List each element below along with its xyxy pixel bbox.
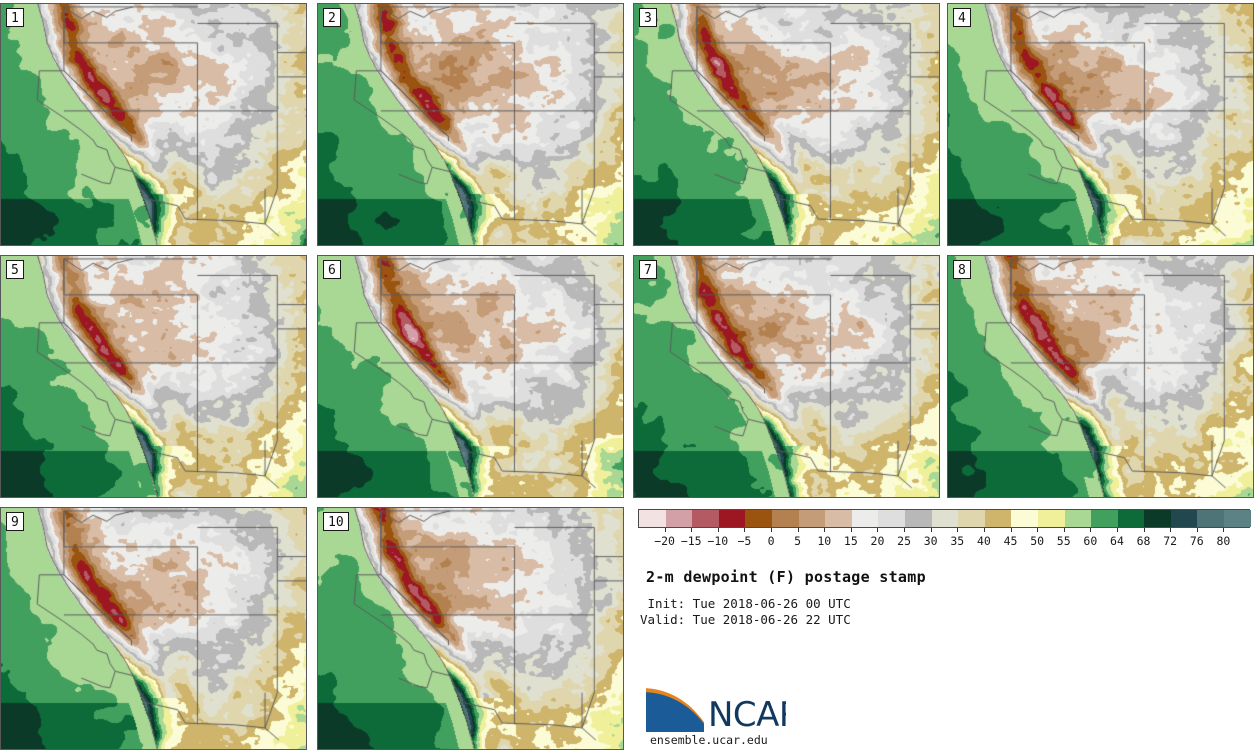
colorbar-tick-labels: −20−15−10−505101520253035404550556064687… (638, 534, 1250, 550)
colorbar-tick (984, 528, 985, 532)
colorbar-swatch-5 (772, 510, 799, 527)
colorbar-tick (824, 528, 825, 532)
colorbar-tick (1064, 528, 1065, 532)
map-panel-member-5: 5 (0, 255, 307, 498)
colorbar-tick-label: 0 (768, 534, 775, 548)
colorbar-tick (1144, 528, 1145, 532)
map-panel-member-9: 9 (0, 507, 307, 750)
colorbar-swatch-19 (1144, 510, 1171, 527)
colorbar-tick (1090, 528, 1091, 532)
panel-number-label: 2 (323, 8, 341, 27)
colorbar-swatch-18 (1118, 510, 1145, 527)
colorbar-tick (691, 528, 692, 532)
colorbar: −20−15−10−505101520253035404550556064687… (638, 509, 1250, 549)
colorbar-tick-label: 20 (871, 534, 885, 548)
map-canvas-member-3 (634, 4, 940, 246)
colorbar-swatch-13 (985, 510, 1012, 527)
ncar-wordmark: NCAR (708, 695, 786, 734)
colorbar-tick-label: 25 (897, 534, 911, 548)
colorbar-tick-label: −5 (737, 534, 751, 548)
colorbar-tick (771, 528, 772, 532)
ncar-logo: NCAR ensemble.ucar.edu (646, 686, 786, 738)
colorbar-swatch-20 (1171, 510, 1198, 527)
colorbar-tick-label: 15 (844, 534, 858, 548)
colorbar-tick (1197, 528, 1198, 532)
colorbar-tick-label: 45 (1004, 534, 1018, 548)
colorbar-swatches (638, 509, 1250, 528)
map-panel-member-4: 4 (947, 3, 1254, 246)
colorbar-tick (904, 528, 905, 532)
map-canvas-member-10 (318, 508, 624, 750)
map-canvas-member-7 (634, 256, 940, 498)
colorbar-swatch-21 (1197, 510, 1224, 527)
colorbar-tick-label: 35 (950, 534, 964, 548)
map-canvas-member-9 (1, 508, 307, 750)
colorbar-tick-label: 68 (1137, 534, 1151, 548)
map-canvas-member-8 (948, 256, 1254, 498)
colorbar-tick-label: 40 (977, 534, 991, 548)
panel-number-label: 7 (639, 260, 657, 279)
logo-url-label: ensemble.ucar.edu (650, 733, 768, 747)
map-panel-member-8: 8 (947, 255, 1254, 498)
colorbar-swatch-17 (1091, 510, 1118, 527)
colorbar-tick-label: 30 (924, 534, 938, 548)
colorbar-swatch-2 (692, 510, 719, 527)
colorbar-tick (718, 528, 719, 532)
colorbar-ticks (638, 528, 1250, 533)
map-panel-member-3: 3 (633, 3, 940, 246)
colorbar-swatch-0 (639, 510, 666, 527)
ncar-logo-mark: NCAR (646, 686, 786, 734)
colorbar-tick (798, 528, 799, 532)
colorbar-tick-label: 5 (794, 534, 801, 548)
map-panel-member-6: 6 (317, 255, 624, 498)
map-canvas-member-5 (1, 256, 307, 498)
map-panel-member-7: 7 (633, 255, 940, 498)
init-time-label: Init: Tue 2018-06-26 00 UTC (640, 596, 851, 611)
map-canvas-member-6 (318, 256, 624, 498)
panel-number-label: 5 (6, 260, 24, 279)
colorbar-tick-label: 10 (817, 534, 831, 548)
panel-number-label: 8 (953, 260, 971, 279)
colorbar-tick-label: 76 (1190, 534, 1204, 548)
colorbar-tick (1011, 528, 1012, 532)
colorbar-swatch-10 (905, 510, 932, 527)
colorbar-tick (665, 528, 666, 532)
colorbar-tick (957, 528, 958, 532)
colorbar-swatch-8 (852, 510, 879, 527)
panel-number-label: 1 (6, 8, 24, 27)
colorbar-tick-label: 64 (1110, 534, 1124, 548)
colorbar-swatch-1 (666, 510, 693, 527)
colorbar-tick (1037, 528, 1038, 532)
postage-stamp-figure: 12345678910 −20−15−10−505101520253035404… (0, 0, 1260, 746)
map-canvas-member-2 (318, 4, 624, 246)
colorbar-tick-label: 55 (1057, 534, 1071, 548)
colorbar-tick-label: −10 (707, 534, 728, 548)
valid-time-label: Valid: Tue 2018-06-26 22 UTC (640, 612, 851, 627)
colorbar-swatch-4 (745, 510, 772, 527)
panel-number-label: 3 (639, 8, 657, 27)
colorbar-tick (1170, 528, 1171, 532)
colorbar-tick-label: 50 (1030, 534, 1044, 548)
colorbar-tick (877, 528, 878, 532)
colorbar-swatch-7 (825, 510, 852, 527)
map-panel-member-1: 1 (0, 3, 307, 246)
colorbar-tick-label: −20 (654, 534, 675, 548)
colorbar-tick (851, 528, 852, 532)
colorbar-tick-label: 72 (1163, 534, 1177, 548)
panel-number-label: 4 (953, 8, 971, 27)
colorbar-swatch-14 (1011, 510, 1038, 527)
colorbar-tick (1117, 528, 1118, 532)
colorbar-tick (1223, 528, 1224, 532)
colorbar-swatch-16 (1065, 510, 1092, 527)
colorbar-swatch-11 (932, 510, 959, 527)
colorbar-swatch-22 (1224, 510, 1251, 527)
colorbar-tick-label: 80 (1216, 534, 1230, 548)
colorbar-tick (744, 528, 745, 532)
map-panel-member-2: 2 (317, 3, 624, 246)
colorbar-swatch-12 (958, 510, 985, 527)
map-panel-member-10: 10 (317, 507, 624, 750)
colorbar-tick-label: −15 (681, 534, 702, 548)
figure-title: 2-m dewpoint (F) postage stamp (646, 568, 926, 586)
colorbar-tick (931, 528, 932, 532)
panel-number-label: 6 (323, 260, 341, 279)
map-canvas-member-1 (1, 4, 307, 246)
colorbar-swatch-15 (1038, 510, 1065, 527)
colorbar-swatch-3 (719, 510, 746, 527)
colorbar-swatch-9 (878, 510, 905, 527)
map-canvas-member-4 (948, 4, 1254, 246)
panel-number-label: 10 (323, 512, 349, 531)
colorbar-swatch-6 (799, 510, 826, 527)
panel-number-label: 9 (6, 512, 24, 531)
colorbar-tick-label: 60 (1083, 534, 1097, 548)
